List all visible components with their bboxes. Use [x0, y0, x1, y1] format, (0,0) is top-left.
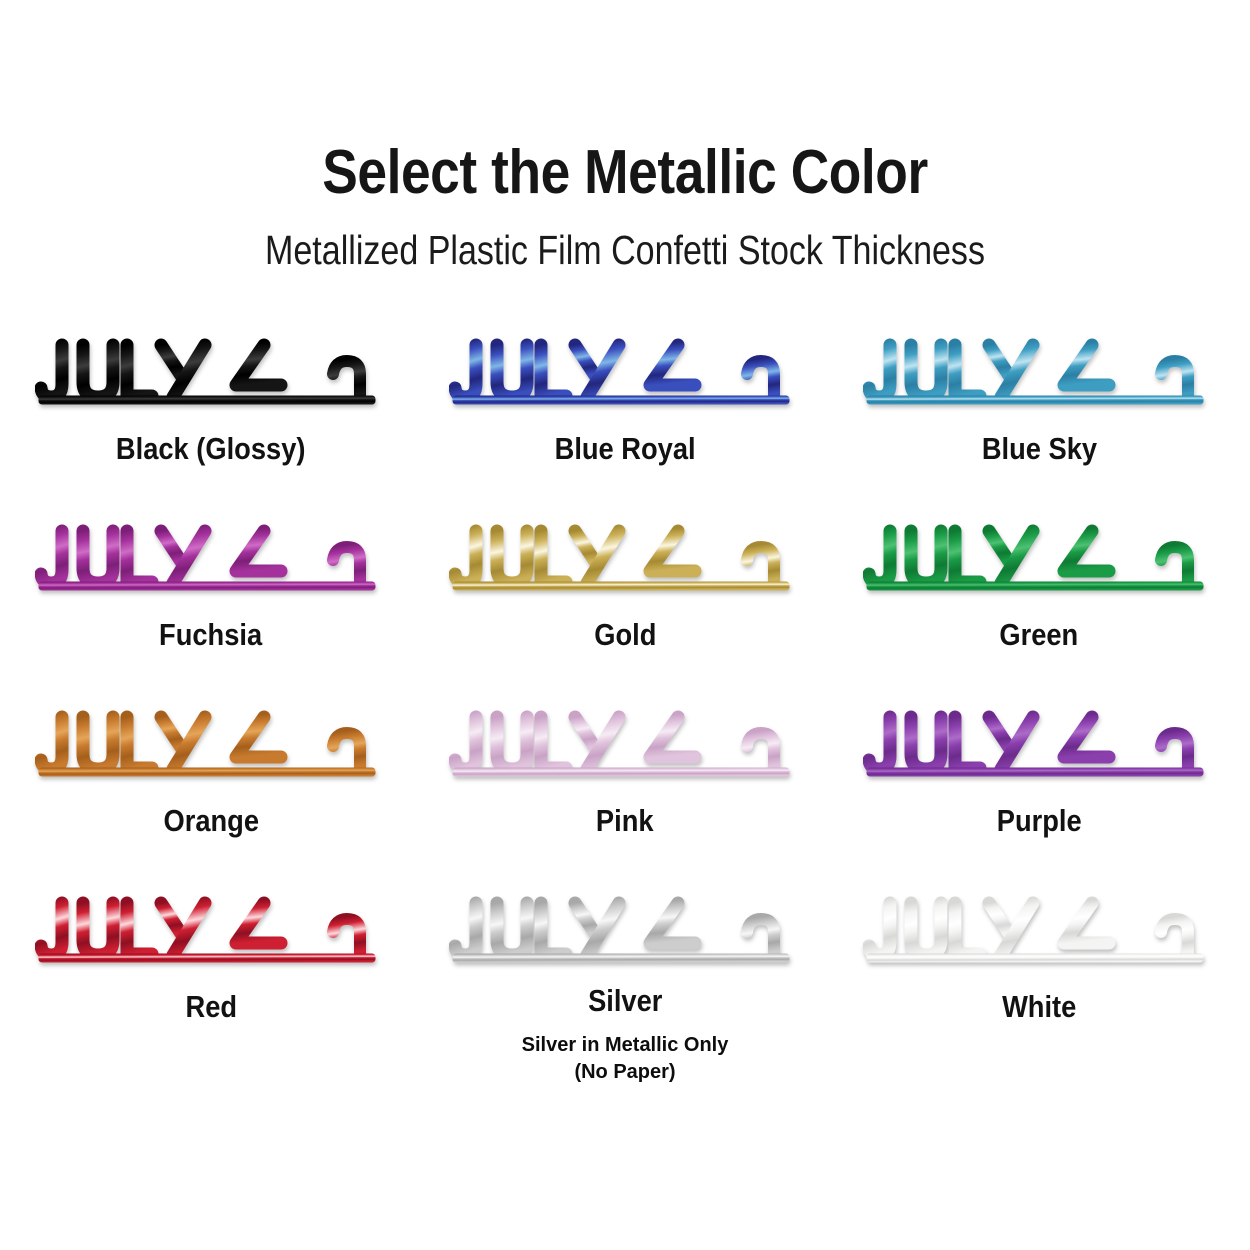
- july-4th-cutout-icon: [449, 885, 801, 981]
- color-swatch-black-glossy[interactable]: Black (Glossy): [4, 325, 418, 511]
- color-swatch-white[interactable]: White: [832, 883, 1246, 1069]
- color-swatch-green[interactable]: Green: [832, 511, 1246, 697]
- page-header: Select the Metallic Color Metallized Pla…: [0, 0, 1250, 271]
- july-4th-cutout-icon: [863, 513, 1215, 609]
- july-4th-cutout-icon: [863, 327, 1215, 423]
- swatch-note-silver: Silver in Metallic Only(No Paper): [522, 1032, 729, 1086]
- color-swatch-blue-royal[interactable]: Blue Royal: [418, 325, 832, 511]
- swatch-artwork-fuchsia[interactable]: [4, 511, 418, 615]
- july-4th-cutout-icon: [863, 885, 1215, 981]
- color-swatch-blue-sky[interactable]: Blue Sky: [832, 325, 1246, 511]
- color-swatch-red[interactable]: Red: [4, 883, 418, 1069]
- swatch-artwork-orange[interactable]: [4, 697, 418, 801]
- color-swatch-fuchsia[interactable]: Fuchsia: [4, 511, 418, 697]
- july-4th-cutout-icon: [35, 699, 387, 795]
- swatch-label-black-glossy: Black (Glossy): [116, 433, 306, 464]
- swatch-artwork-blue-royal[interactable]: [418, 325, 832, 429]
- swatch-label-blue-royal: Blue Royal: [555, 433, 696, 464]
- page-subtitle: Metallized Plastic Film Confetti Stock T…: [106, 230, 1144, 271]
- color-swatch-grid: Black (Glossy)Blue RoyalBlue SkyFuchsiaG…: [0, 325, 1250, 1069]
- color-swatch-orange[interactable]: Orange: [4, 697, 418, 883]
- color-swatch-pink[interactable]: Pink: [418, 697, 832, 883]
- swatch-label-purple: Purple: [997, 805, 1082, 836]
- swatch-label-white: White: [1002, 991, 1076, 1022]
- swatch-label-silver: Silver: [588, 985, 662, 1016]
- july-4th-cutout-icon: [449, 327, 801, 423]
- july-4th-cutout-icon: [863, 699, 1215, 795]
- swatch-artwork-gold[interactable]: [418, 511, 832, 615]
- swatch-note-line-2: (No Paper): [522, 1059, 729, 1086]
- swatch-artwork-blue-sky[interactable]: [832, 325, 1246, 429]
- swatch-artwork-green[interactable]: [832, 511, 1246, 615]
- swatch-label-fuchsia: Fuchsia: [159, 619, 262, 650]
- color-swatch-purple[interactable]: Purple: [832, 697, 1246, 883]
- july-4th-cutout-icon: [35, 885, 387, 981]
- swatch-artwork-black-glossy[interactable]: [4, 325, 418, 429]
- color-swatch-gold[interactable]: Gold: [418, 511, 832, 697]
- swatch-label-green: Green: [1000, 619, 1079, 650]
- swatch-label-pink: Pink: [596, 805, 654, 836]
- july-4th-cutout-icon: [35, 327, 387, 423]
- swatch-artwork-white[interactable]: [832, 883, 1246, 987]
- swatch-label-orange: Orange: [163, 805, 259, 836]
- july-4th-cutout-icon: [449, 699, 801, 795]
- swatch-artwork-purple[interactable]: [832, 697, 1246, 801]
- metallic-color-selector-page: Select the Metallic Color Metallized Pla…: [0, 0, 1250, 1250]
- swatch-label-gold: Gold: [594, 619, 656, 650]
- swatch-artwork-red[interactable]: [4, 883, 418, 987]
- july-4th-cutout-icon: [449, 513, 801, 609]
- swatch-label-blue-sky: Blue Sky: [981, 433, 1096, 464]
- swatch-note-line-1: Silver in Metallic Only: [522, 1032, 729, 1059]
- swatch-artwork-pink[interactable]: [418, 697, 832, 801]
- swatch-artwork-silver[interactable]: [418, 883, 832, 981]
- page-title: Select the Metallic Color: [88, 142, 1163, 204]
- color-swatch-silver[interactable]: SilverSilver in Metallic Only(No Paper): [418, 883, 832, 1069]
- july-4th-cutout-icon: [35, 513, 387, 609]
- swatch-label-red: Red: [185, 991, 237, 1022]
